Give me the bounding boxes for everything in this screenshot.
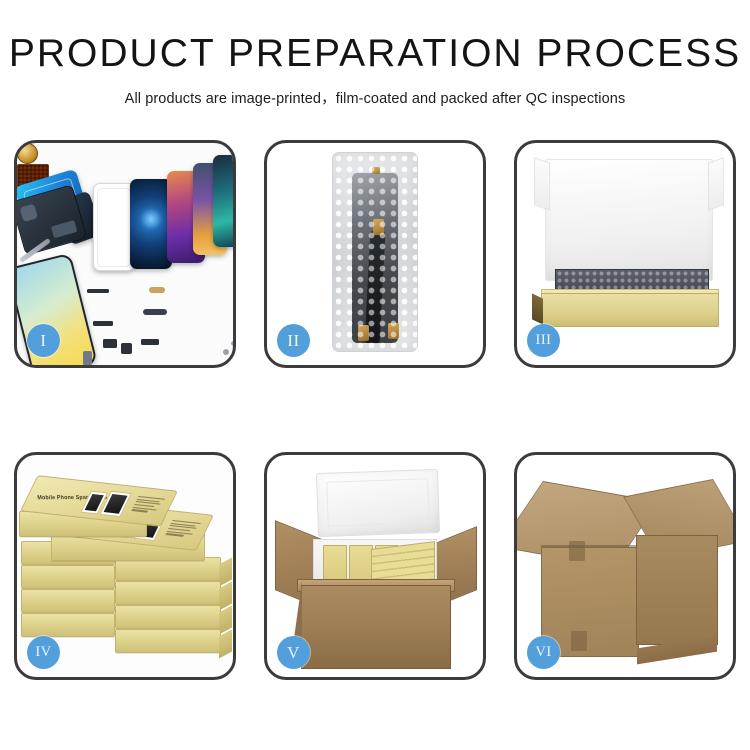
header: PRODUCT PREPARATION PROCESS All products… bbox=[0, 34, 750, 108]
page-title: PRODUCT PREPARATION PROCESS bbox=[0, 34, 750, 73]
step-badge-2: II bbox=[277, 324, 310, 357]
step-badge-1: I bbox=[27, 324, 60, 357]
styrofoam-lid bbox=[316, 469, 440, 537]
step-panel-3: III bbox=[514, 140, 736, 368]
ribbon-part bbox=[93, 321, 113, 326]
box-spec-lines bbox=[131, 496, 165, 515]
flex-cable-part bbox=[87, 289, 109, 293]
gold-contact bbox=[373, 219, 384, 235]
box-spec-lines bbox=[165, 520, 201, 539]
gold-connector-part bbox=[149, 287, 165, 293]
screw-part bbox=[231, 341, 233, 346]
step-badge-5: V bbox=[277, 636, 310, 669]
step-badge-3: III bbox=[527, 324, 560, 357]
stacked-box bbox=[115, 605, 221, 629]
step-panel-6: VI bbox=[514, 452, 736, 680]
tape-tab bbox=[372, 167, 380, 174]
bubble-wrap-bag bbox=[332, 152, 418, 352]
sim-tray-part bbox=[83, 351, 92, 365]
screw-part bbox=[223, 349, 229, 355]
step-badge-4: IV bbox=[27, 636, 60, 669]
speaker-coil-part bbox=[17, 143, 38, 164]
camera-module-part bbox=[103, 339, 117, 348]
sensor-flex-part bbox=[143, 309, 167, 315]
step-badge-6: VI bbox=[527, 636, 560, 669]
stacked-box bbox=[115, 629, 221, 653]
phone-blue-display bbox=[130, 179, 172, 269]
page-subtitle: All products are image-printed，film-coat… bbox=[0, 87, 750, 108]
step-panel-1: I bbox=[14, 140, 236, 368]
carton-seam bbox=[541, 545, 637, 547]
product-preparation-infographic: PRODUCT PREPARATION PROCESS All products… bbox=[0, 0, 750, 750]
gold-contact bbox=[358, 325, 369, 341]
antenna-part bbox=[141, 339, 159, 345]
step-panel-4: Mobile Phone Spare Parts Mobile Phone Sp… bbox=[14, 452, 236, 680]
step-panel-5: V bbox=[264, 452, 486, 680]
step-panel-2: II bbox=[264, 140, 486, 368]
packing-tape-bottom bbox=[571, 631, 587, 651]
tempered-glass bbox=[93, 183, 135, 271]
gold-contact bbox=[388, 323, 399, 339]
stacked-box bbox=[21, 613, 115, 637]
process-steps-grid: I II bbox=[14, 140, 736, 685]
yellow-inner-box bbox=[541, 293, 719, 327]
button-part bbox=[121, 343, 132, 354]
stacked-box bbox=[21, 565, 115, 589]
stacked-box bbox=[115, 581, 221, 605]
foam-lid bbox=[545, 159, 713, 281]
carton-side-face bbox=[636, 535, 718, 645]
carton-body bbox=[301, 585, 451, 669]
phone-teal-display bbox=[213, 155, 233, 247]
stacked-box bbox=[21, 589, 115, 613]
packing-tape-top bbox=[569, 541, 585, 561]
